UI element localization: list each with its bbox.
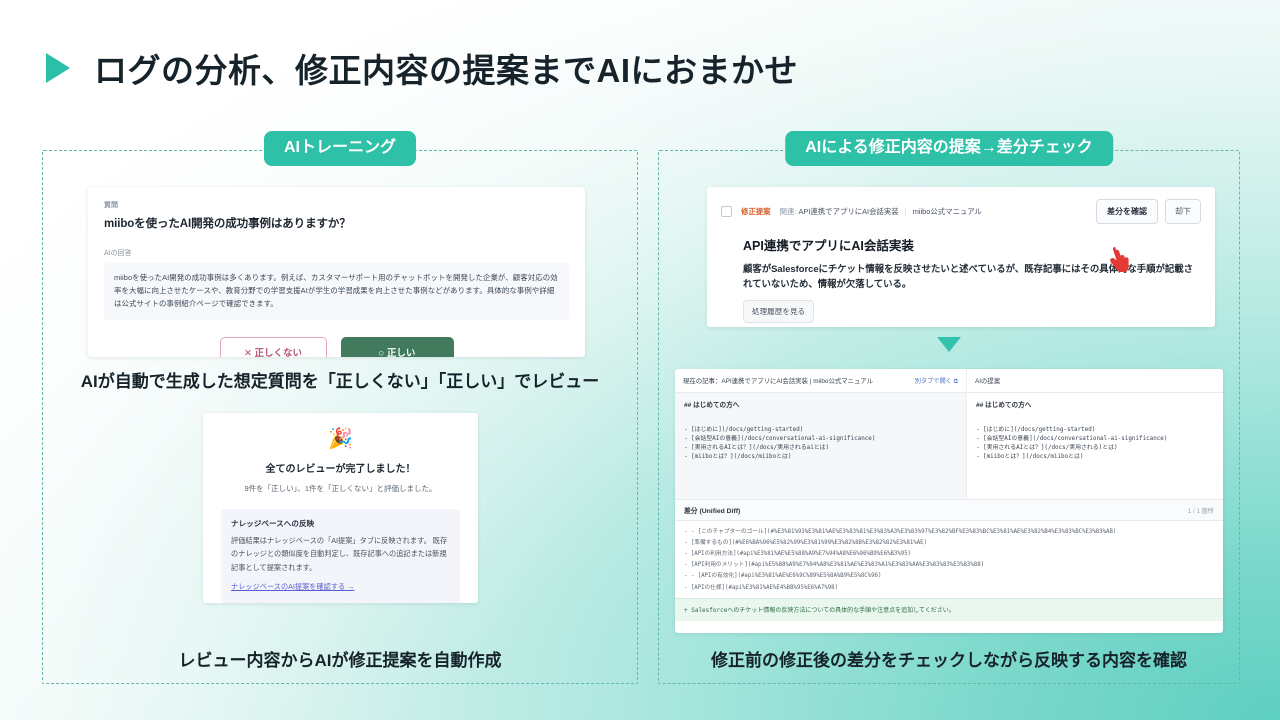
arrow-down-icon [937,337,961,352]
fix-suggestion-card: 修正提案 関連: API連携でアプリにAI会話実装 | miibo公式マニュアル… [707,187,1215,327]
review-button-row: ✕ 正しくない ○ 正しい [104,337,569,357]
right-column: AIによる修正内容の提案→差分チェック 修正提案 関連: API連携でアプリにA… [658,150,1240,684]
diff-removed-line: - [APIの利用方法](#api%E3%81%AE%E5%88%A9%E7%9… [684,549,1214,560]
hand-pointer-cursor [1107,245,1131,275]
current-heading: ## はじめての方へ [684,401,957,411]
unchecked-checkbox[interactable] [721,206,732,217]
ai-proposal-label: AIの提案 [975,376,1000,385]
related-prefix: 関連: [780,207,797,216]
right-caption-bottom: 修正前の修正後の差分をチェックしながら反映する内容を確認 [659,646,1239,671]
proposal-heading: ## はじめての方へ [976,401,1214,411]
diff-count: 1 / 1 箇所 [1188,506,1214,515]
related-article-title: API連携でアプリにAI会話実装 [798,207,898,216]
separator: | [901,207,911,216]
current-line: - [会話型AIの意義](/docs/conversational-ai-sig… [684,435,957,444]
knowledge-base-box: ナレッジベースへの反映 評価結果はナレッジベースの「AI提案」タブに反映されます… [221,509,460,603]
diff-column-current: ## はじめての方へ - [はじめに](/docs/getting-starte… [675,393,967,499]
unified-diff-bar: 差分 (Unified Diff) 1 / 1 箇所 [675,499,1223,521]
diff-removed-line: - - [このチャプターのゴール](#%E3%81%93%E3%81%AE%E3… [684,527,1214,538]
diff-header-right: AIの提案 [967,369,1223,392]
page-title-text: ログの分析、修正内容の提案までAIにおまかせ [94,44,798,92]
current-article-label: 現在の記事：API連携でアプリにAI会話実装 | miibo公式マニュアル [683,376,873,385]
status-badge: 修正提案 [741,206,771,217]
mark-incorrect-button[interactable]: ✕ 正しくない [220,337,327,357]
review-complete-subtitle: 9件を「正しい」、1件を「正しくない」と評価しました。 [221,483,460,494]
review-complete-title: 全てのレビューが完了しました！ [221,460,460,475]
question-label: 質問 [104,200,569,210]
diff-column-proposal: ## はじめての方へ - [はじめに](/docs/getting-starte… [967,393,1223,499]
question-text: miiboを使ったAI開発の成功事例はありますか？ [104,215,569,231]
suggestion-title: API連携でアプリにAI会話実装 [743,235,1201,254]
current-line: - [miiboとは？](/docs/miiboとは) [684,453,957,462]
reject-button[interactable]: 却下 [1165,199,1201,224]
diff-removed-line: - - [APIの有効化](#api%E3%81%AE%E6%9C%89%E5%… [684,571,1214,582]
proposal-line: - [はじめに](/docs/getting-started) [976,426,1214,435]
knowledge-base-link[interactable]: ナレッジベースのAI提案を確認する → [231,582,354,592]
left-column: AIトレーニング 質問 miiboを使ったAI開発の成功事例はありますか？ AI… [42,150,638,684]
knowledge-base-title: ナレッジベースへの反映 [231,518,450,529]
diff-viewer-card: 現在の記事：API連携でアプリにAI会話実装 | miibo公式マニュアル 別タ… [675,369,1223,633]
review-complete-card: 🎉 全てのレビューが完了しました！ 9件を「正しい」、1件を「正しくない」と評価… [203,413,478,603]
view-history-button[interactable]: 処理履歴を見る [743,300,814,323]
qa-review-card: 質問 miiboを使ったAI開発の成功事例はありますか？ AIの回答 miibo… [88,187,585,357]
current-line: - [はじめに](/docs/getting-started) [684,426,957,435]
right-column-header: AIによる修正内容の提案→差分チェック [785,131,1113,166]
unified-diff-label: 差分 (Unified Diff) [684,505,740,515]
left-caption-top: AIが自動で生成した想定質問を「正しくない」「正しい」でレビュー [43,367,637,392]
suggestion-actions: 差分を確認 却下 [1096,199,1201,224]
play-triangle-icon [46,53,70,83]
knowledge-base-body: 評価結果はナレッジベースの「AI提案」タブに反映されます。 既存のナレッジとの類… [231,534,450,574]
check-diff-button[interactable]: 差分を確認 [1096,199,1158,224]
answer-label: AIの回答 [104,248,569,258]
suggestion-header: 修正提案 関連: API連携でアプリにAI会話実装 | miibo公式マニュアル… [721,199,1201,224]
related-article-line: 関連: API連携でアプリにAI会話実装 | miibo公式マニュアル [780,206,982,217]
proposal-line: - [実用されるAIとは？](/docs/実用される)とは) [976,444,1214,453]
open-new-tab-link[interactable]: 別タブで開く ⧉ [915,376,958,386]
diff-header-left: 現在の記事：API連携でアプリにAI会話実装 | miibo公式マニュアル 別タ… [675,369,967,392]
diff-added-line: + Salesforceへのチケット情報の反映方法についての具体的な手順や注意点… [675,598,1223,621]
related-article-source: miibo公式マニュアル [913,207,982,216]
left-column-header: AIトレーニング [264,131,416,166]
suggestion-body: 顧客がSalesforceにチケット情報を反映させたいと述べているが、既存記事に… [743,261,1201,291]
unified-diff-body: - - [このチャプターのゴール](#%E3%81%93%E3%81%AE%E3… [675,521,1223,594]
diff-compare-columns: ## はじめての方へ - [はじめに](/docs/getting-starte… [675,393,1223,499]
page-title: ログの分析、修正内容の提案までAIにおまかせ [46,44,798,92]
diff-header-row: 現在の記事：API連携でアプリにAI会話実装 | miibo公式マニュアル 別タ… [675,369,1223,393]
slide-root: ログの分析、修正内容の提案までAIにおまかせ AIトレーニング 質問 miibo… [0,0,1280,720]
proposal-line: - [会話型AIの意義](/docs/conversational-ai-sig… [976,435,1214,444]
diff-removed-line: - [準備するもの](#%E6%BA%96%E5%82%99%E3%81%99%… [684,538,1214,549]
diff-removed-line: - [APIの仕様](#api%E3%81%AE%E4%BB%95%E6%A7%… [684,583,1214,594]
current-line: - [実用されるAIとは？](/docs/実用されるaiとは) [684,444,957,453]
left-caption-bottom: レビュー内容からAIが修正提案を自動作成 [43,646,637,671]
mark-correct-button[interactable]: ○ 正しい [341,337,454,357]
proposal-line: - [miiboとは？](/docs/miiboとは) [976,453,1214,462]
party-popper-icon: 🎉 [221,429,460,449]
diff-removed-line: - [API利用のメリット](#api%E5%88%A9%E7%94%A8%E3… [684,560,1214,571]
answer-text: miiboを使ったAI開発の成功事例は多くあります。例えば、カスタマーサポート用… [104,263,569,320]
